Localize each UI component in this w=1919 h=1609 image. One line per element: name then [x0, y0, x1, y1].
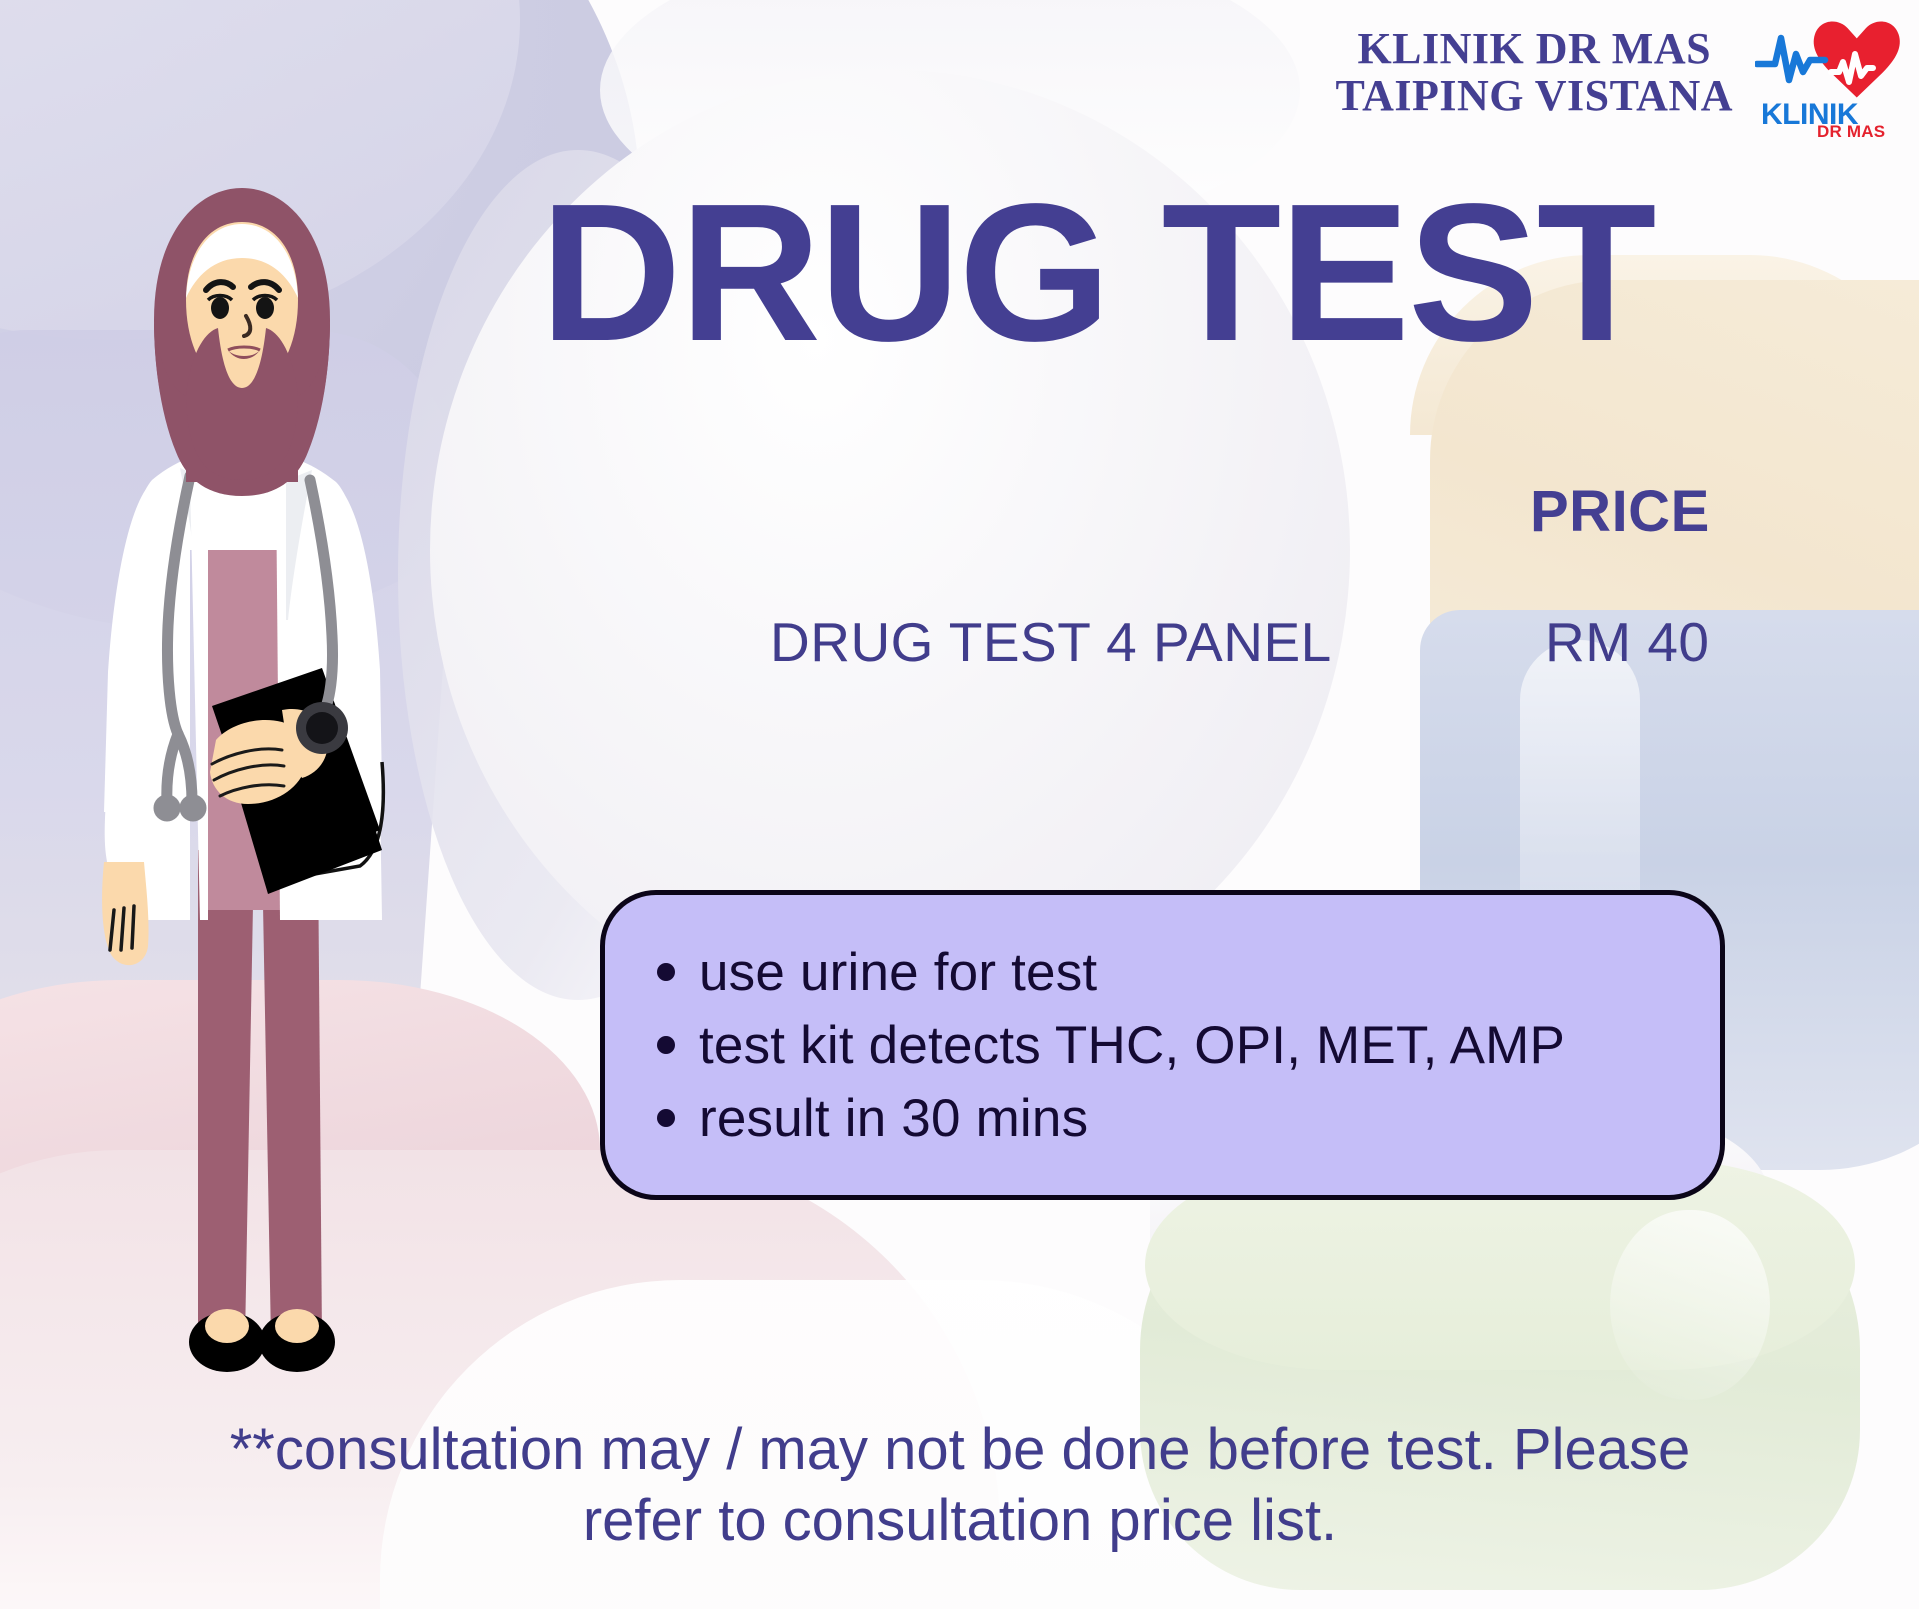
disclaimer-line-2: refer to consultation price list. [60, 1486, 1860, 1557]
disclaimer-line-1: **consultation may / may not be done bef… [60, 1415, 1860, 1486]
service-name: DRUG TEST 4 PANEL [770, 610, 1332, 674]
logo-word-dr-mas: DR MAS [1817, 122, 1885, 142]
bullet-icon [657, 1036, 675, 1054]
clinic-name: KLINIK DR MAS TAIPING VISTANA [1336, 14, 1733, 119]
bullet-icon [657, 1109, 675, 1127]
note-text: test kit detects THC, OPI, MET, AMP [699, 1015, 1565, 1076]
background-pill-green-highlight [1610, 1210, 1770, 1400]
list-item: test kit detects THC, OPI, MET, AMP [657, 1015, 1680, 1076]
note-text: use urine for test [699, 942, 1097, 1003]
notes-card: use urine for test test kit detects THC,… [600, 890, 1725, 1200]
clinic-logo: KLINIK DR MAS [1755, 14, 1905, 140]
doctor-leg-right [262, 850, 322, 1340]
disclaimer: **consultation may / may not be done bef… [60, 1415, 1860, 1557]
note-text: result in 30 mins [699, 1088, 1088, 1149]
clinic-name-line-1: KLINIK DR MAS [1336, 26, 1733, 73]
clinic-name-line-2: TAIPING VISTANA [1336, 73, 1733, 120]
clinic-header: KLINIK DR MAS TAIPING VISTANA KLINIK DR … [1010, 14, 1905, 124]
page-title: DRUG TEST [540, 185, 1900, 361]
list-item: use urine for test [657, 942, 1680, 1003]
doctor-figure-icon [30, 150, 450, 1380]
price-column-header: PRICE [1530, 478, 1710, 545]
service-price: RM 40 [1545, 610, 1710, 674]
list-item: result in 30 mins [657, 1088, 1680, 1149]
poster-canvas: KLINIK DR MAS TAIPING VISTANA KLINIK DR … [0, 0, 1919, 1609]
doctor-illustration [30, 150, 450, 1380]
doctor-leg-left [198, 850, 254, 1340]
bullet-icon [657, 963, 675, 981]
